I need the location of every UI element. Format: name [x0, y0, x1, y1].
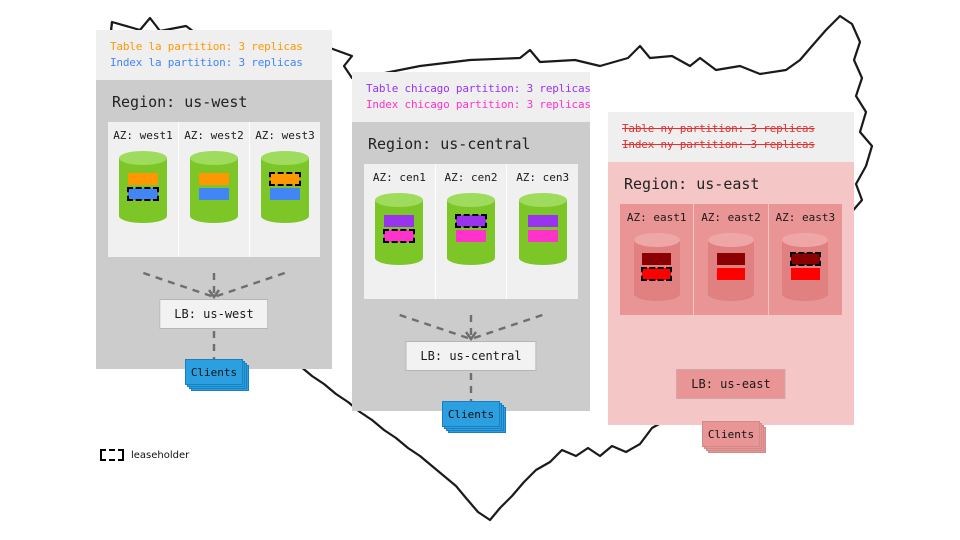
replica-bar-table — [717, 253, 746, 265]
replica-bar-table — [128, 173, 158, 185]
replica-bars — [708, 233, 754, 301]
partition-header-us-west: Table la partition: 3 replicasIndex la p… — [96, 30, 332, 80]
replica-bar-table-leaseholder — [270, 173, 300, 185]
clients-sheet: Clients — [442, 401, 500, 427]
az-spacer — [436, 265, 507, 299]
replica-bar-table-leaseholder — [456, 215, 486, 227]
az-west2[interactable]: AZ: west2 — [178, 122, 249, 257]
replica-bars — [375, 193, 423, 265]
database-cylinder-icon — [447, 193, 495, 265]
az-spacer — [694, 301, 767, 315]
database-cylinder-icon — [190, 151, 238, 223]
partition-line-table: Table chicago partition: 3 replicas — [366, 81, 578, 97]
clients-sheet: Clients — [185, 359, 243, 385]
replica-bar-index-leaseholder — [642, 268, 671, 280]
az-spacer — [250, 223, 320, 257]
legend-label: leaseholder — [131, 450, 189, 461]
replica-bars — [119, 151, 167, 223]
partition-line-table: Table ny partition: 3 replicas — [622, 121, 842, 137]
partition-line-index: Index la partition: 3 replicas — [110, 55, 320, 71]
replica-bar-index — [791, 268, 820, 280]
partition-line-index: Index ny partition: 3 replicas — [622, 137, 842, 153]
clients-us-central[interactable]: Clients — [442, 401, 500, 427]
replica-bar-index — [270, 188, 300, 200]
clients-sheet: Clients — [702, 421, 760, 447]
az-row: AZ: west1AZ: west2AZ: west3 — [108, 122, 320, 257]
clients-us-west[interactable]: Clients — [185, 359, 243, 385]
az-label: AZ: west2 — [179, 129, 249, 142]
clients-label: Clients — [708, 428, 754, 441]
az-cen2[interactable]: AZ: cen2 — [435, 164, 507, 299]
az-spacer — [364, 265, 435, 299]
replica-bar-index — [717, 268, 746, 280]
az-row: AZ: east1AZ: east2AZ: east3 — [620, 204, 842, 315]
load-balancer-us-central[interactable]: LB: us-central — [405, 341, 536, 371]
database-cylinder-icon — [708, 233, 754, 301]
replica-bar-index — [199, 188, 229, 200]
load-balancer-us-east[interactable]: LB: us-east — [676, 369, 785, 399]
az-west3[interactable]: AZ: west3 — [249, 122, 320, 257]
clients-us-east[interactable]: Clients — [702, 421, 760, 447]
replica-bar-index-leaseholder — [384, 230, 414, 242]
az-east3[interactable]: AZ: east3 — [768, 204, 842, 315]
leaseholder-swatch-icon — [100, 449, 124, 461]
az-label: AZ: cen2 — [436, 171, 507, 184]
replica-bar-index — [528, 230, 558, 242]
clients-label: Clients — [448, 408, 494, 421]
replica-bars — [261, 151, 309, 223]
replica-bar-table-leaseholder — [791, 253, 820, 265]
replica-bars — [634, 233, 680, 301]
az-cen3[interactable]: AZ: cen3 — [506, 164, 578, 299]
database-cylinder-icon — [119, 151, 167, 223]
clients-label: Clients — [191, 366, 237, 379]
load-balancer-us-west[interactable]: LB: us-west — [159, 299, 268, 329]
replica-bars — [190, 151, 238, 223]
database-cylinder-icon — [261, 151, 309, 223]
replica-bar-index-leaseholder — [128, 188, 158, 200]
replica-bar-table — [642, 253, 671, 265]
az-label: AZ: west3 — [250, 129, 320, 142]
az-spacer — [620, 301, 693, 315]
az-label: AZ: west1 — [108, 129, 178, 142]
replica-bar-table — [384, 215, 414, 227]
replica-bar-table — [199, 173, 229, 185]
az-west1[interactable]: AZ: west1 — [108, 122, 178, 257]
replica-bars — [447, 193, 495, 265]
replica-bars — [782, 233, 828, 301]
region-title: Region: us-central — [352, 122, 590, 164]
legend: leaseholder — [100, 449, 189, 461]
partition-header-us-east: Table ny partition: 3 replicasIndex ny p… — [608, 112, 854, 162]
az-label: AZ: east1 — [620, 211, 693, 224]
az-spacer — [108, 223, 178, 257]
replica-bars — [519, 193, 567, 265]
partition-header-us-central: Table chicago partition: 3 replicasIndex… — [352, 72, 590, 122]
region-block-us-east: Table ny partition: 3 replicasIndex ny p… — [608, 112, 854, 425]
az-label: AZ: cen3 — [507, 171, 578, 184]
database-cylinder-icon — [375, 193, 423, 265]
database-cylinder-icon — [782, 233, 828, 301]
diagram-canvas: Table la partition: 3 replicasIndex la p… — [0, 0, 960, 540]
partition-line-index: Index chicago partition: 3 replicas — [366, 97, 578, 113]
region-block-us-central: Table chicago partition: 3 replicasIndex… — [352, 72, 590, 411]
region-title: Region: us-east — [608, 162, 854, 204]
az-spacer — [179, 223, 249, 257]
partition-line-table: Table la partition: 3 replicas — [110, 39, 320, 55]
az-label: AZ: cen1 — [364, 171, 435, 184]
az-label: AZ: east3 — [769, 211, 842, 224]
az-cen1[interactable]: AZ: cen1 — [364, 164, 435, 299]
az-spacer — [769, 301, 842, 315]
az-east2[interactable]: AZ: east2 — [693, 204, 767, 315]
region-title: Region: us-west — [96, 80, 332, 122]
az-spacer — [507, 265, 578, 299]
region-block-us-west: Table la partition: 3 replicasIndex la p… — [96, 30, 332, 369]
replica-bar-index — [456, 230, 486, 242]
database-cylinder-icon — [519, 193, 567, 265]
database-cylinder-icon — [634, 233, 680, 301]
replica-bar-table — [528, 215, 558, 227]
az-east1[interactable]: AZ: east1 — [620, 204, 693, 315]
az-row: AZ: cen1AZ: cen2AZ: cen3 — [364, 164, 578, 299]
az-label: AZ: east2 — [694, 211, 767, 224]
